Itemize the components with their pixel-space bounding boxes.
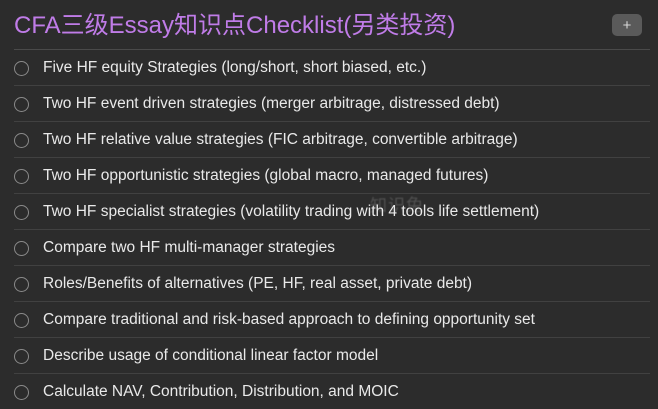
- checklist-row[interactable]: Compare traditional and risk-based appro…: [0, 302, 658, 338]
- checklist-list: Five HF equity Strategies (long/short, s…: [0, 50, 658, 409]
- checklist-row[interactable]: Five HF equity Strategies (long/short, s…: [0, 50, 658, 86]
- checkbox-circle-icon[interactable]: [14, 241, 29, 256]
- checklist-row-label: Five HF equity Strategies (long/short, s…: [43, 60, 426, 76]
- checkbox-circle-icon[interactable]: [14, 61, 29, 76]
- checklist-row[interactable]: Compare two HF multi-manager strategies: [0, 230, 658, 266]
- checklist-row-label: Compare traditional and risk-based appro…: [43, 312, 535, 328]
- checkbox-circle-icon[interactable]: [14, 133, 29, 148]
- checklist-row[interactable]: Calculate NAV, Contribution, Distributio…: [0, 374, 658, 409]
- plus-icon: +: [623, 18, 632, 33]
- checklist-row-label: Calculate NAV, Contribution, Distributio…: [43, 384, 399, 400]
- checklist-app: CFA三级Essay知识点Checklist(另类投资) + Five HF e…: [0, 0, 658, 409]
- checklist-row[interactable]: Two HF opportunistic strategies (global …: [0, 158, 658, 194]
- checkbox-circle-icon[interactable]: [14, 97, 29, 112]
- checkbox-circle-icon[interactable]: [14, 169, 29, 184]
- checklist-row-label: Two HF event driven strategies (merger a…: [43, 96, 500, 112]
- checkbox-circle-icon[interactable]: [14, 277, 29, 292]
- checklist-row[interactable]: Two HF specialist strategies (volatility…: [0, 194, 658, 230]
- checklist-row-label: Two HF specialist strategies (volatility…: [43, 204, 539, 220]
- checklist-row[interactable]: Roles/Benefits of alternatives (PE, HF, …: [0, 266, 658, 302]
- page-title: CFA三级Essay知识点Checklist(另类投资): [14, 12, 455, 38]
- add-item-button[interactable]: +: [612, 14, 642, 36]
- checkbox-circle-icon[interactable]: [14, 205, 29, 220]
- checklist-row-label: Two HF opportunistic strategies (global …: [43, 168, 488, 184]
- checkbox-circle-icon[interactable]: [14, 385, 29, 400]
- checklist-row[interactable]: Describe usage of conditional linear fac…: [0, 338, 658, 374]
- checklist-row-label: Compare two HF multi-manager strategies: [43, 240, 335, 256]
- checklist-row-label: Describe usage of conditional linear fac…: [43, 348, 378, 364]
- checkbox-circle-icon[interactable]: [14, 349, 29, 364]
- checkbox-circle-icon[interactable]: [14, 313, 29, 328]
- header: CFA三级Essay知识点Checklist(另类投资) +: [0, 0, 658, 50]
- checklist-row[interactable]: Two HF relative value strategies (FIC ar…: [0, 122, 658, 158]
- checklist-row-label: Roles/Benefits of alternatives (PE, HF, …: [43, 276, 472, 292]
- checklist-row[interactable]: Two HF event driven strategies (merger a…: [0, 86, 658, 122]
- checklist-row-label: Two HF relative value strategies (FIC ar…: [43, 132, 518, 148]
